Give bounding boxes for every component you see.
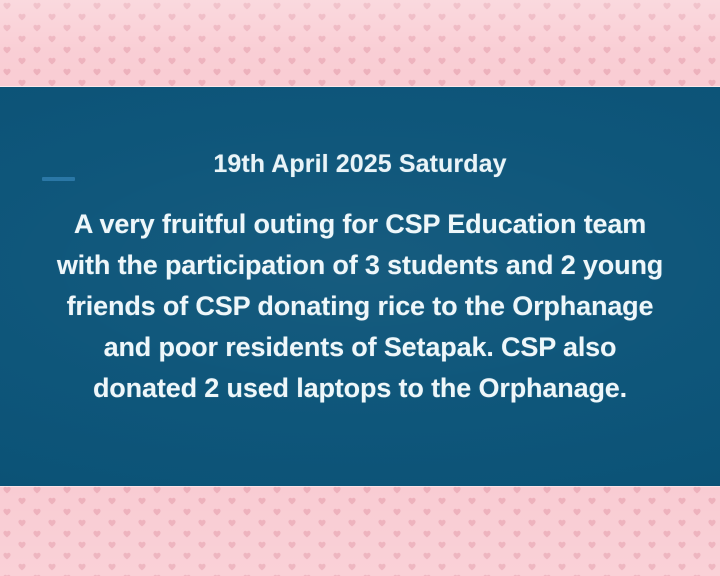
body-line: with the participation of 3 students and… xyxy=(26,245,694,286)
body-text: A very fruitful outing for CSP Education… xyxy=(26,204,694,409)
body-line: donated 2 used laptops to the Orphanage. xyxy=(26,368,694,409)
page-title: 19th April 2025 Saturday xyxy=(0,150,720,179)
body-line: friends of CSP donating rice to the Orph… xyxy=(26,286,694,327)
body-line: A very fruitful outing for CSP Education… xyxy=(26,204,694,245)
body-line: and poor residents of Setapak. CSP also xyxy=(26,327,694,368)
image-canvas: 19th April 2025 Saturday A very fruitful… xyxy=(0,0,720,576)
